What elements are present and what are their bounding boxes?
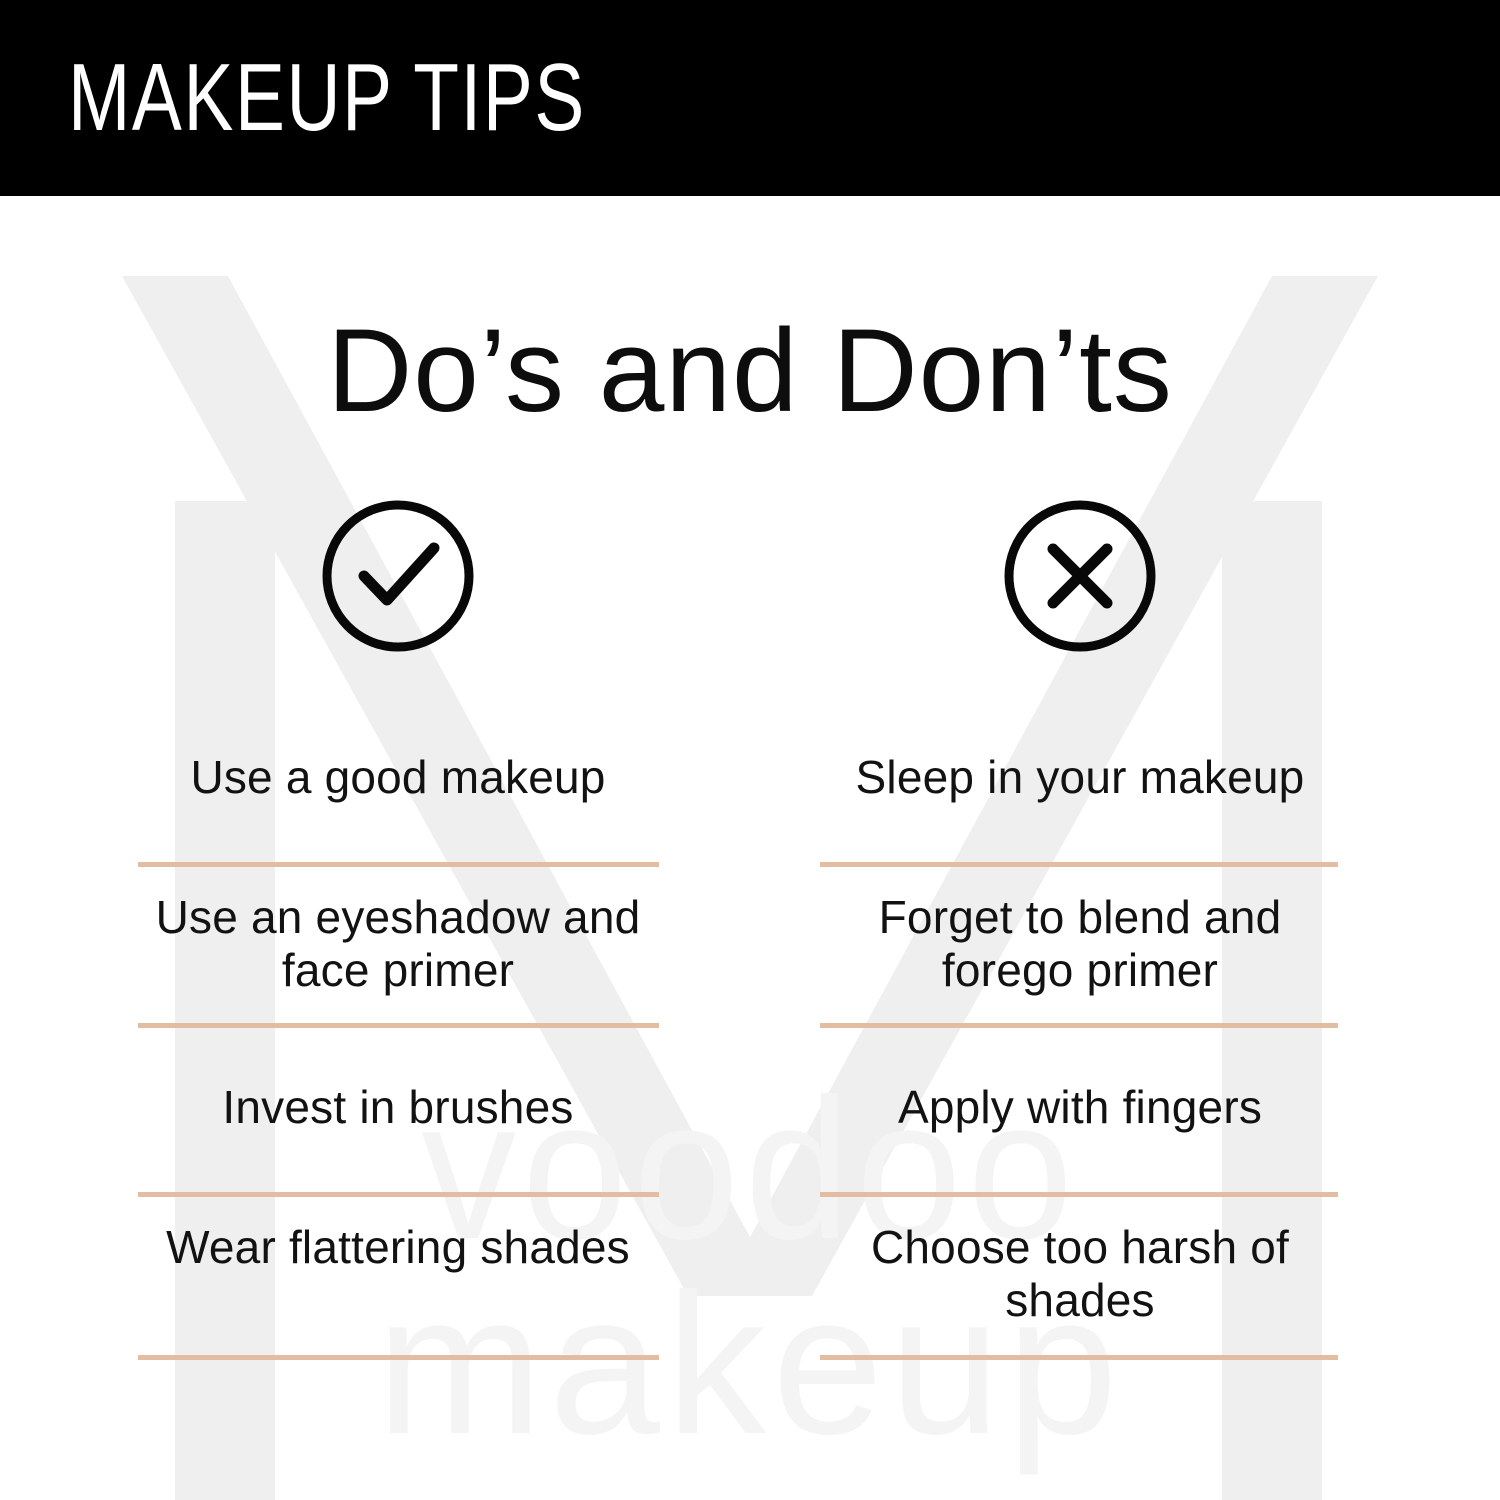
list-item: Use a good makeup bbox=[98, 751, 698, 816]
tip-text: Sleep in your makeup bbox=[780, 751, 1380, 804]
dos-icon-wrap bbox=[98, 496, 698, 666]
list-item: Invest in brushes bbox=[98, 1081, 698, 1146]
divider bbox=[820, 1023, 1338, 1028]
list-item: Use an eyeshadow and face primer bbox=[98, 891, 698, 1009]
list-item: Forget to blend and forego primer bbox=[780, 891, 1380, 1009]
divider bbox=[138, 1355, 659, 1360]
divider bbox=[820, 1355, 1338, 1360]
list-item: Apply with fingers bbox=[780, 1081, 1380, 1146]
divider bbox=[820, 862, 1338, 867]
page-title-header: MAKEUP TIPS bbox=[68, 46, 586, 150]
tip-text: Choose too harsh of shades bbox=[780, 1221, 1380, 1327]
list-item: Sleep in your makeup bbox=[780, 751, 1380, 816]
divider bbox=[138, 1023, 659, 1028]
divider bbox=[138, 1192, 659, 1197]
tip-text: Apply with fingers bbox=[780, 1081, 1380, 1134]
x-circle-icon bbox=[1000, 496, 1160, 661]
divider bbox=[138, 862, 659, 867]
infographic-canvas: voodoo makeup MAKEUP TIPS Do’s and Don’t… bbox=[0, 0, 1500, 1500]
header-banner: MAKEUP TIPS bbox=[0, 0, 1500, 196]
main-content: Do’s and Don’ts Use a good makeup Use an… bbox=[0, 196, 1500, 1500]
donts-icon-wrap bbox=[780, 496, 1380, 666]
check-circle-icon bbox=[318, 496, 478, 661]
tip-text: Forget to blend and forego primer bbox=[780, 891, 1380, 997]
tip-text: Use a good makeup bbox=[98, 751, 698, 804]
tip-text: Invest in brushes bbox=[98, 1081, 698, 1134]
divider bbox=[820, 1192, 1338, 1197]
section-title: Do’s and Don’ts bbox=[0, 306, 1500, 436]
tip-text: Use an eyeshadow and face primer bbox=[98, 891, 698, 997]
list-item: Wear flattering shades bbox=[98, 1221, 698, 1286]
tip-text: Wear flattering shades bbox=[98, 1221, 698, 1274]
list-item: Choose too harsh of shades bbox=[780, 1221, 1380, 1339]
